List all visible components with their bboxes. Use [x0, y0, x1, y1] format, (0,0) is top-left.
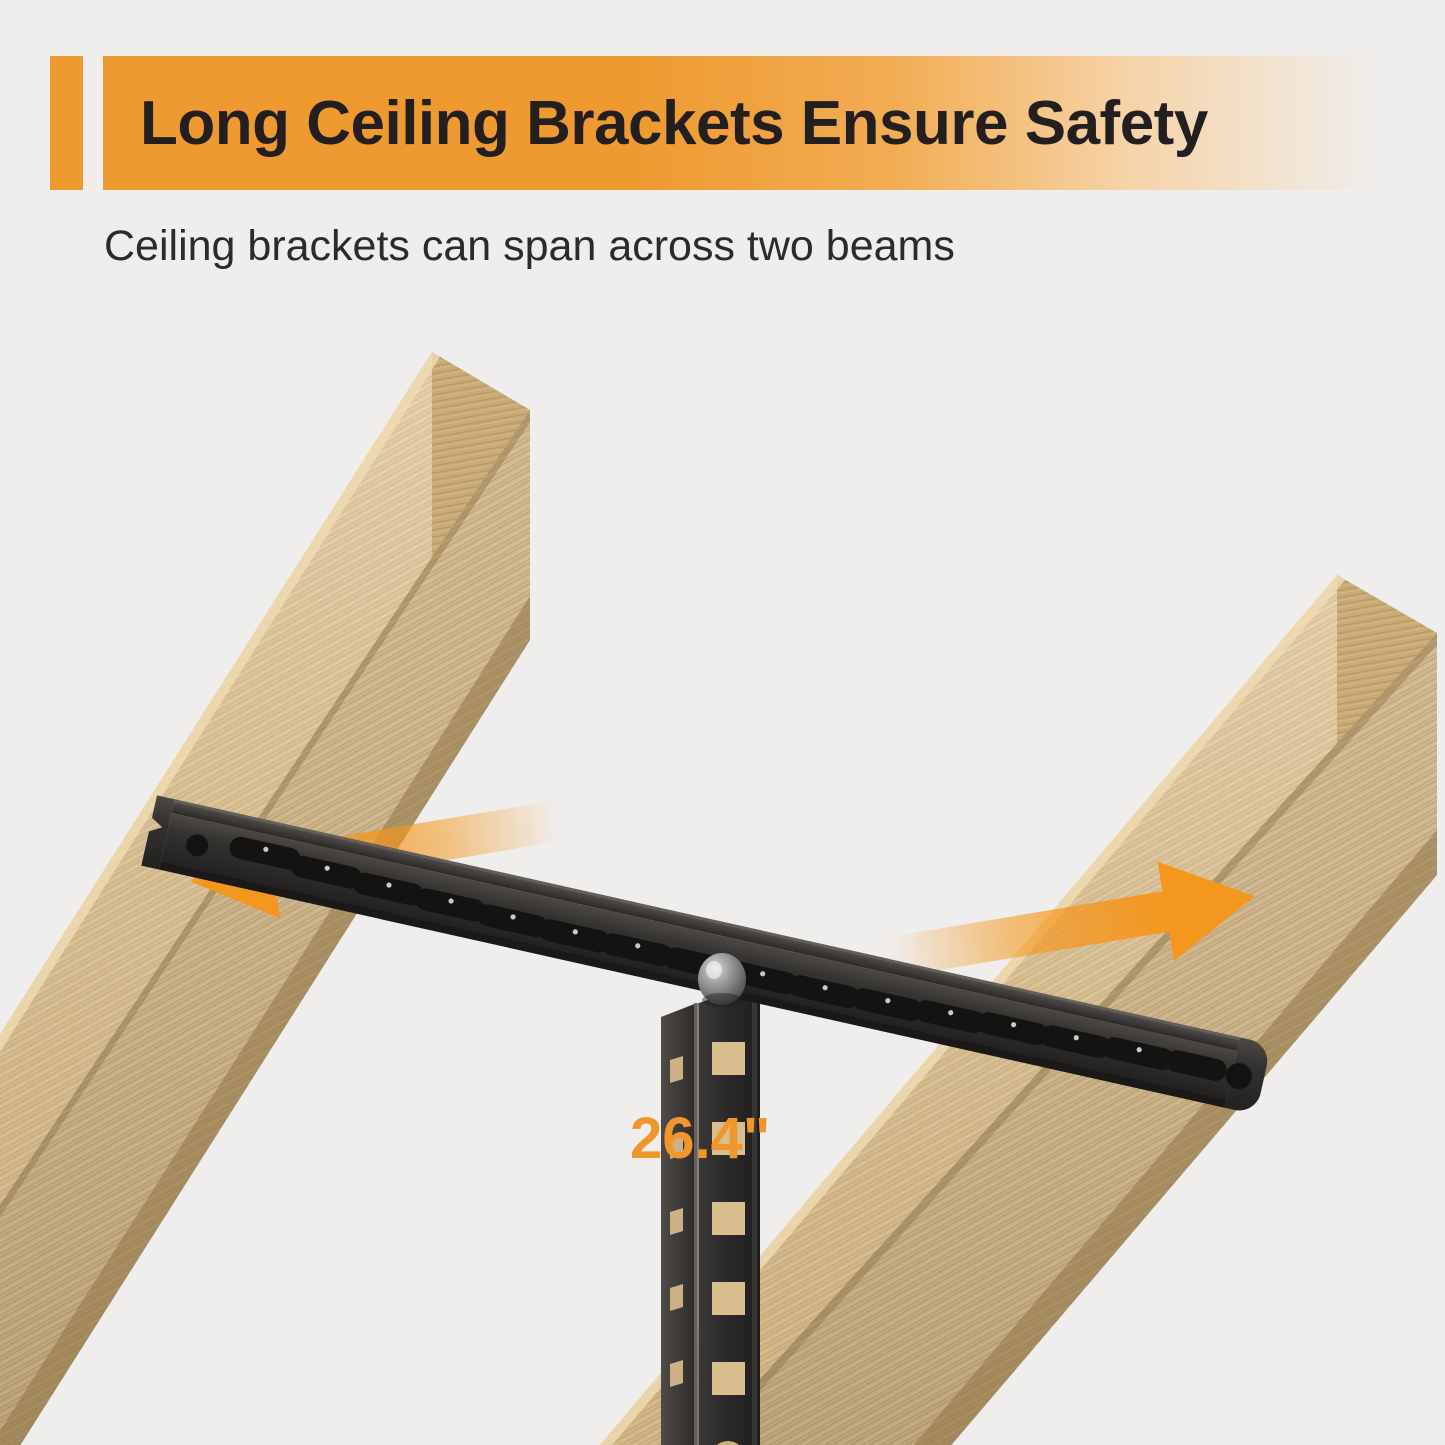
page-subtitle: Ceiling brackets can span across two bea…: [104, 222, 955, 271]
bracket-vertical-post: [661, 982, 760, 1445]
header-accent-bar: [50, 56, 83, 190]
product-feature-image: Long Ceiling Brackets Ensure Safety Ceil…: [0, 0, 1445, 1445]
page-title: Long Ceiling Brackets Ensure Safety: [140, 56, 1400, 190]
center-bolt: [698, 953, 746, 1007]
illustration-scene: 26.4": [0, 300, 1445, 1445]
span-dimension-label: 26.4": [630, 1105, 770, 1172]
